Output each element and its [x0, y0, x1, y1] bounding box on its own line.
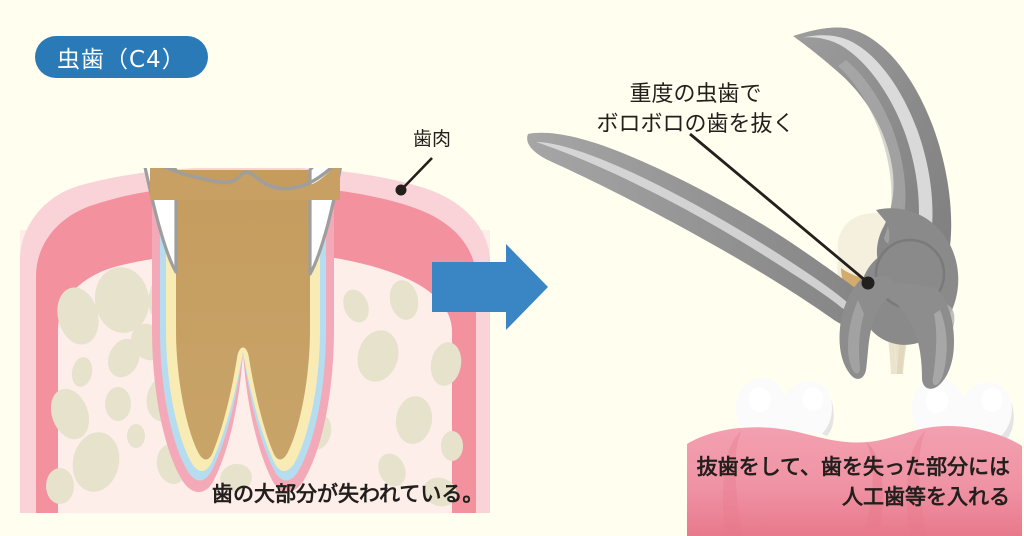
illustration-canvas: 虫歯（C4） 歯肉 重度の虫歯で ボロボロの歯を抜く 歯の大部分が失われている。…	[0, 0, 1024, 536]
gum-label-leader	[396, 158, 433, 196]
right-panel-caption-line1: 抜歯をして、歯を失った部分には	[697, 452, 1010, 482]
extract-note: 重度の虫歯で ボロボロの歯を抜く	[573, 80, 818, 141]
stage-badge: 虫歯（C4）	[35, 36, 208, 78]
left-panel-caption: 歯の大部分が失われている。	[212, 478, 483, 508]
molar-crown-left	[736, 378, 834, 436]
right-panel-caption-line2: 人工歯等を入れる	[697, 482, 1010, 512]
left-panel-caption-text: 歯の大部分が失われている。	[212, 482, 483, 506]
progression-arrow	[432, 244, 548, 330]
extract-note-line2: ボロボロの歯を抜く	[573, 110, 818, 140]
gum-label-leader-dot	[396, 185, 407, 196]
extract-note-line1: 重度の虫歯で	[573, 80, 818, 110]
stage-badge-label: 虫歯（C4）	[57, 40, 186, 74]
extract-note-leader-dot	[862, 277, 875, 290]
forceps-lower-arm	[527, 133, 877, 329]
gum-label: 歯肉	[413, 126, 451, 152]
right-panel-caption: 抜歯をして、歯を失った部分には 人工歯等を入れる	[697, 452, 1010, 513]
gum-label-text: 歯肉	[413, 128, 451, 150]
